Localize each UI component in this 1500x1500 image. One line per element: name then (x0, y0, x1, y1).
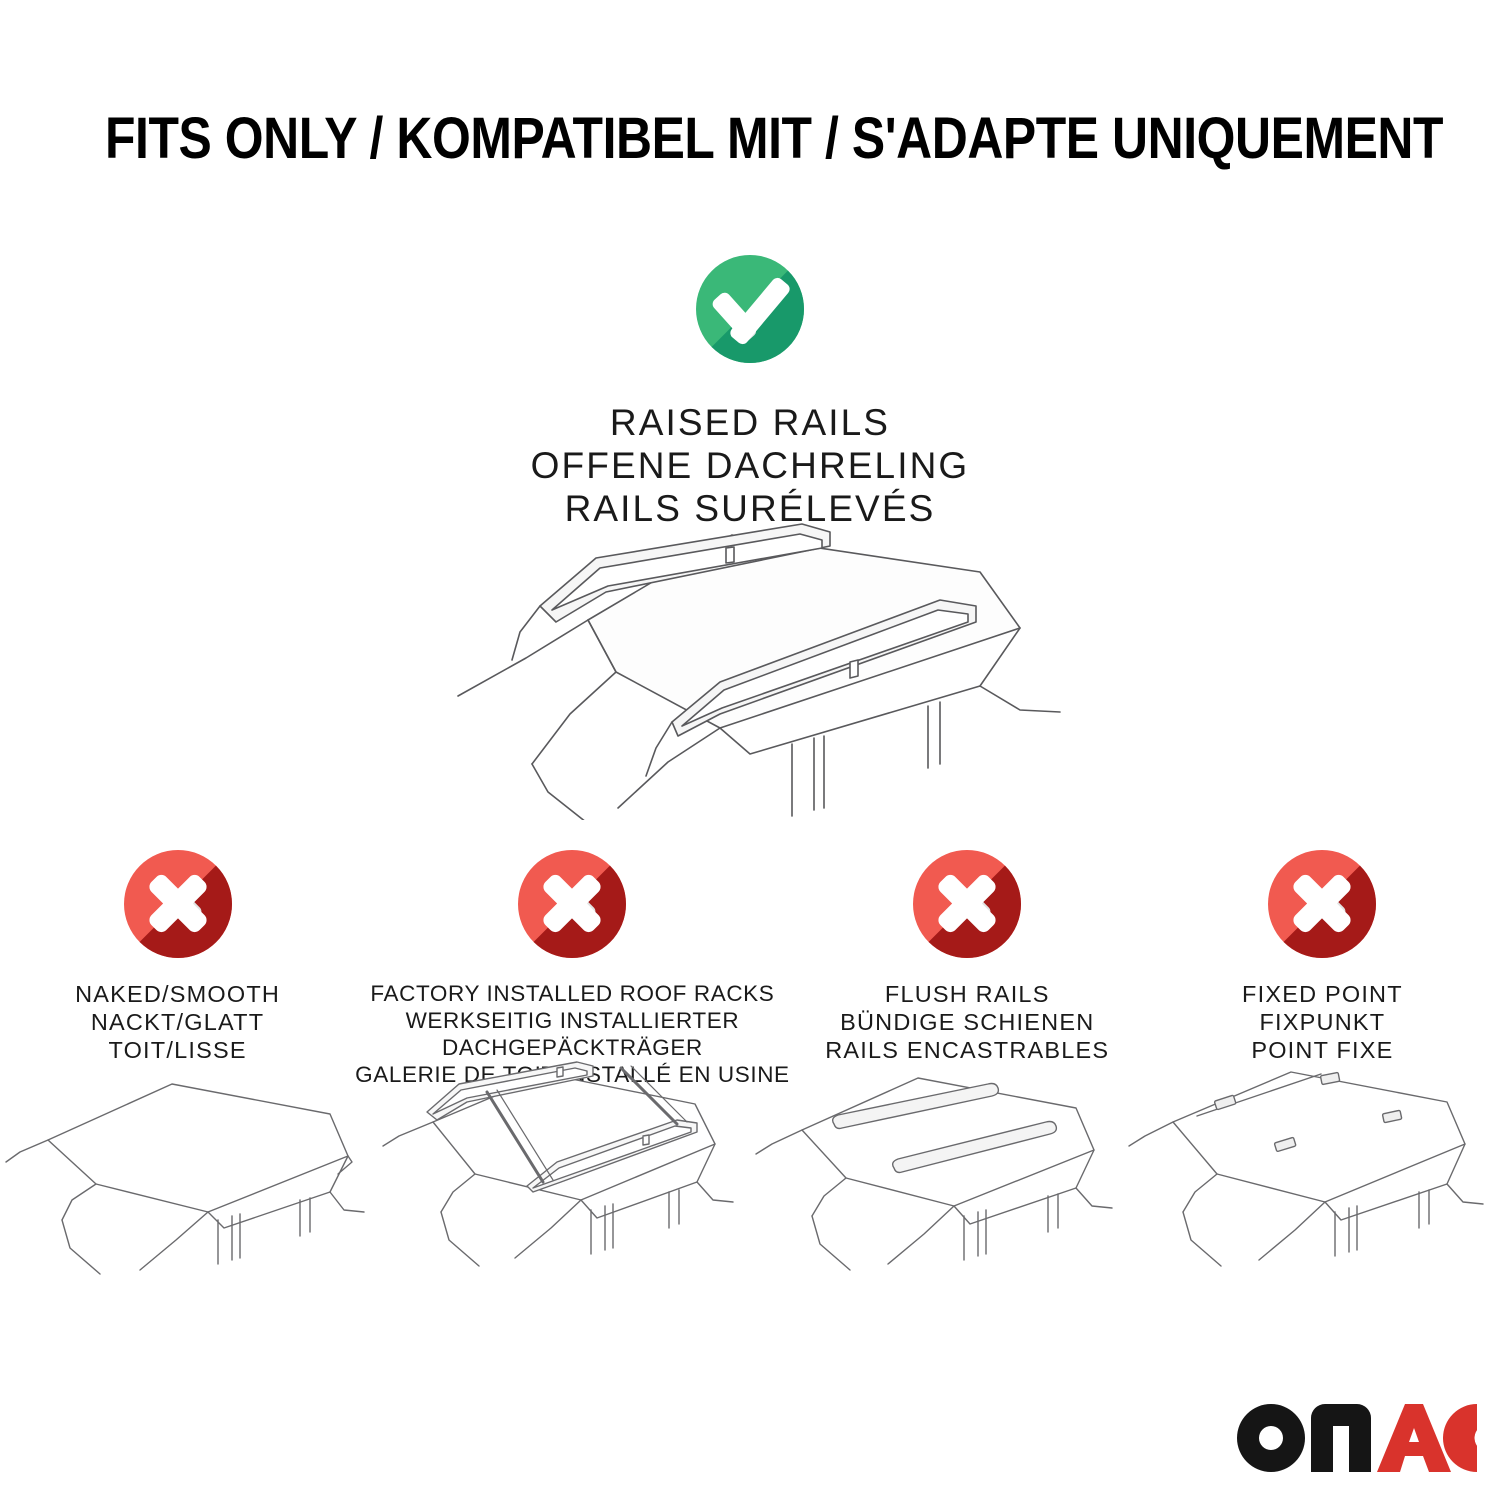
logo-letter-c-body (1443, 1404, 1477, 1472)
x-glyph (1268, 850, 1376, 958)
incompatible-label-de-2: DACHGEPÄCKTRÄGER (355, 1034, 790, 1061)
x-circle-icon (518, 850, 626, 958)
compatible-label-en: RAISED RAILS (531, 401, 970, 444)
logo-letter-o (1237, 1404, 1305, 1472)
compatible-label-de: OFFENE DACHRELING (531, 444, 970, 487)
incompatible-item-flush-rails: FLUSH RAILS BÜNDIGE SCHIENEN RAILS ENCAS… (790, 850, 1145, 1080)
x-circle-icon (124, 850, 232, 958)
car-roof-naked-illustration (0, 1060, 375, 1300)
incompatible-section: NAKED/SMOOTH NACKT/GLATT TOIT/LISSE FACT… (0, 850, 1500, 1080)
omac-logo (1237, 1404, 1477, 1476)
incompatible-illustrations-row (0, 1060, 1500, 1300)
incompatible-item-fixed-point: FIXED POINT FIXPUNKT POINT FIXE (1145, 850, 1500, 1080)
incompatible-caption: FIXED POINT FIXPUNKT POINT FIXE (1242, 980, 1403, 1064)
incompatible-label-de-1: WERKSEITIG INSTALLIERTER (355, 1007, 790, 1034)
x-glyph (518, 850, 626, 958)
logo-letter-m (1311, 1404, 1371, 1472)
incompatible-label-de: FIXPUNKT (1242, 1008, 1403, 1036)
car-roof-factory-rack-illustration (375, 1060, 750, 1300)
x-glyph (913, 850, 1021, 958)
incompatible-label-en: NAKED/SMOOTH (75, 980, 280, 1008)
check-glyph (696, 255, 804, 363)
page-title: FITS ONLY / KOMPATIBEL MIT / S'ADAPTE UN… (105, 104, 1395, 174)
x-glyph (124, 850, 232, 958)
incompatible-caption: FLUSH RAILS BÜNDIGE SCHIENEN RAILS ENCAS… (825, 980, 1109, 1064)
fitment-infographic: FITS ONLY / KOMPATIBEL MIT / S'ADAPTE UN… (0, 0, 1500, 1500)
car-roof-raised-rails-illustration (420, 500, 1100, 820)
incompatible-label-de: BÜNDIGE SCHIENEN (825, 1008, 1109, 1036)
incompatible-caption: NAKED/SMOOTH NACKT/GLATT TOIT/LISSE (75, 980, 280, 1064)
x-circle-icon (1268, 850, 1376, 958)
incompatible-item-naked: NAKED/SMOOTH NACKT/GLATT TOIT/LISSE (0, 850, 355, 1080)
omac-logo-mark (1237, 1404, 1477, 1476)
incompatible-label-en: FLUSH RAILS (825, 980, 1109, 1008)
incompatible-label-en: FIXED POINT (1242, 980, 1403, 1008)
compatible-section: RAISED RAILS OFFENE DACHRELING RAILS SUR… (0, 255, 1500, 530)
x-circle-icon (913, 850, 1021, 958)
car-roof-fixed-point-illustration (1125, 1060, 1500, 1300)
car-roof-flush-rails-illustration (750, 1060, 1125, 1300)
check-circle-icon (696, 255, 804, 363)
incompatible-label-de: NACKT/GLATT (75, 1008, 280, 1036)
logo-letter-a (1377, 1404, 1451, 1472)
incompatible-label-en: FACTORY INSTALLED ROOF RACKS (355, 980, 790, 1007)
incompatible-item-factory-rack: FACTORY INSTALLED ROOF RACKS WERKSEITIG … (355, 850, 790, 1080)
